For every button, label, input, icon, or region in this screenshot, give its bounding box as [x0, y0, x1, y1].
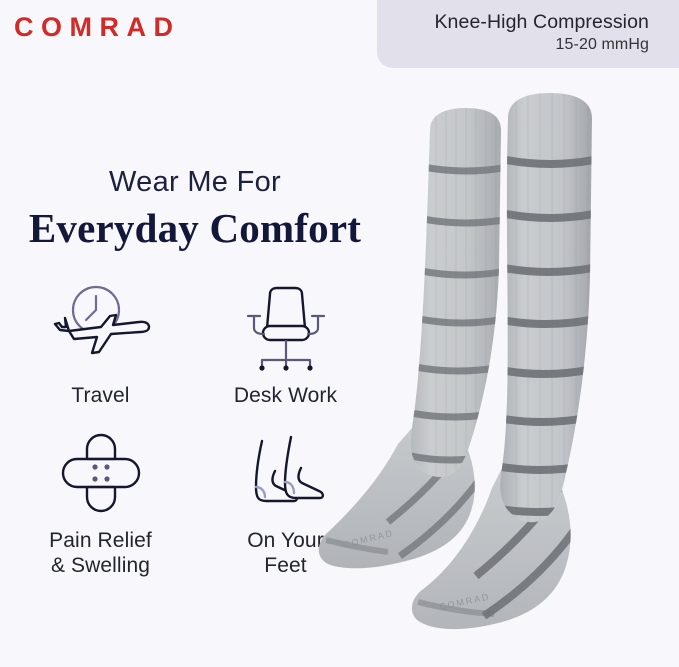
- feature-pain-relief: Pain Relief & Swelling: [8, 423, 193, 579]
- badge-compression-type: Knee-High Compression: [377, 11, 649, 35]
- airplane-clock-icon: [47, 278, 155, 378]
- badge-compression-level: 15-20 mmHg: [377, 35, 649, 56]
- brand-logo: COMRAD: [14, 14, 181, 41]
- product-image-canvas: COMRAD Knee-High Compression 15-20 mmHg …: [0, 0, 679, 667]
- feature-travel: Travel: [8, 278, 193, 409]
- feature-label-line2: Feet: [264, 554, 306, 577]
- crossed-bandages-icon: [47, 423, 155, 523]
- feature-label-travel: Travel: [71, 384, 129, 409]
- compression-badge: Knee-High Compression 15-20 mmHg: [377, 0, 679, 68]
- feature-label-line1: On Your: [247, 529, 324, 552]
- product-socks-image: COMRAD: [318, 78, 679, 667]
- feature-label-line1: Pain Relief: [49, 529, 152, 552]
- feature-label-on-your-feet: On Your Feet: [247, 529, 324, 579]
- feature-label-pain-relief: Pain Relief & Swelling: [49, 529, 152, 579]
- sock-left: COMRAD: [319, 108, 514, 568]
- feature-label-line2: & Swelling: [51, 554, 150, 577]
